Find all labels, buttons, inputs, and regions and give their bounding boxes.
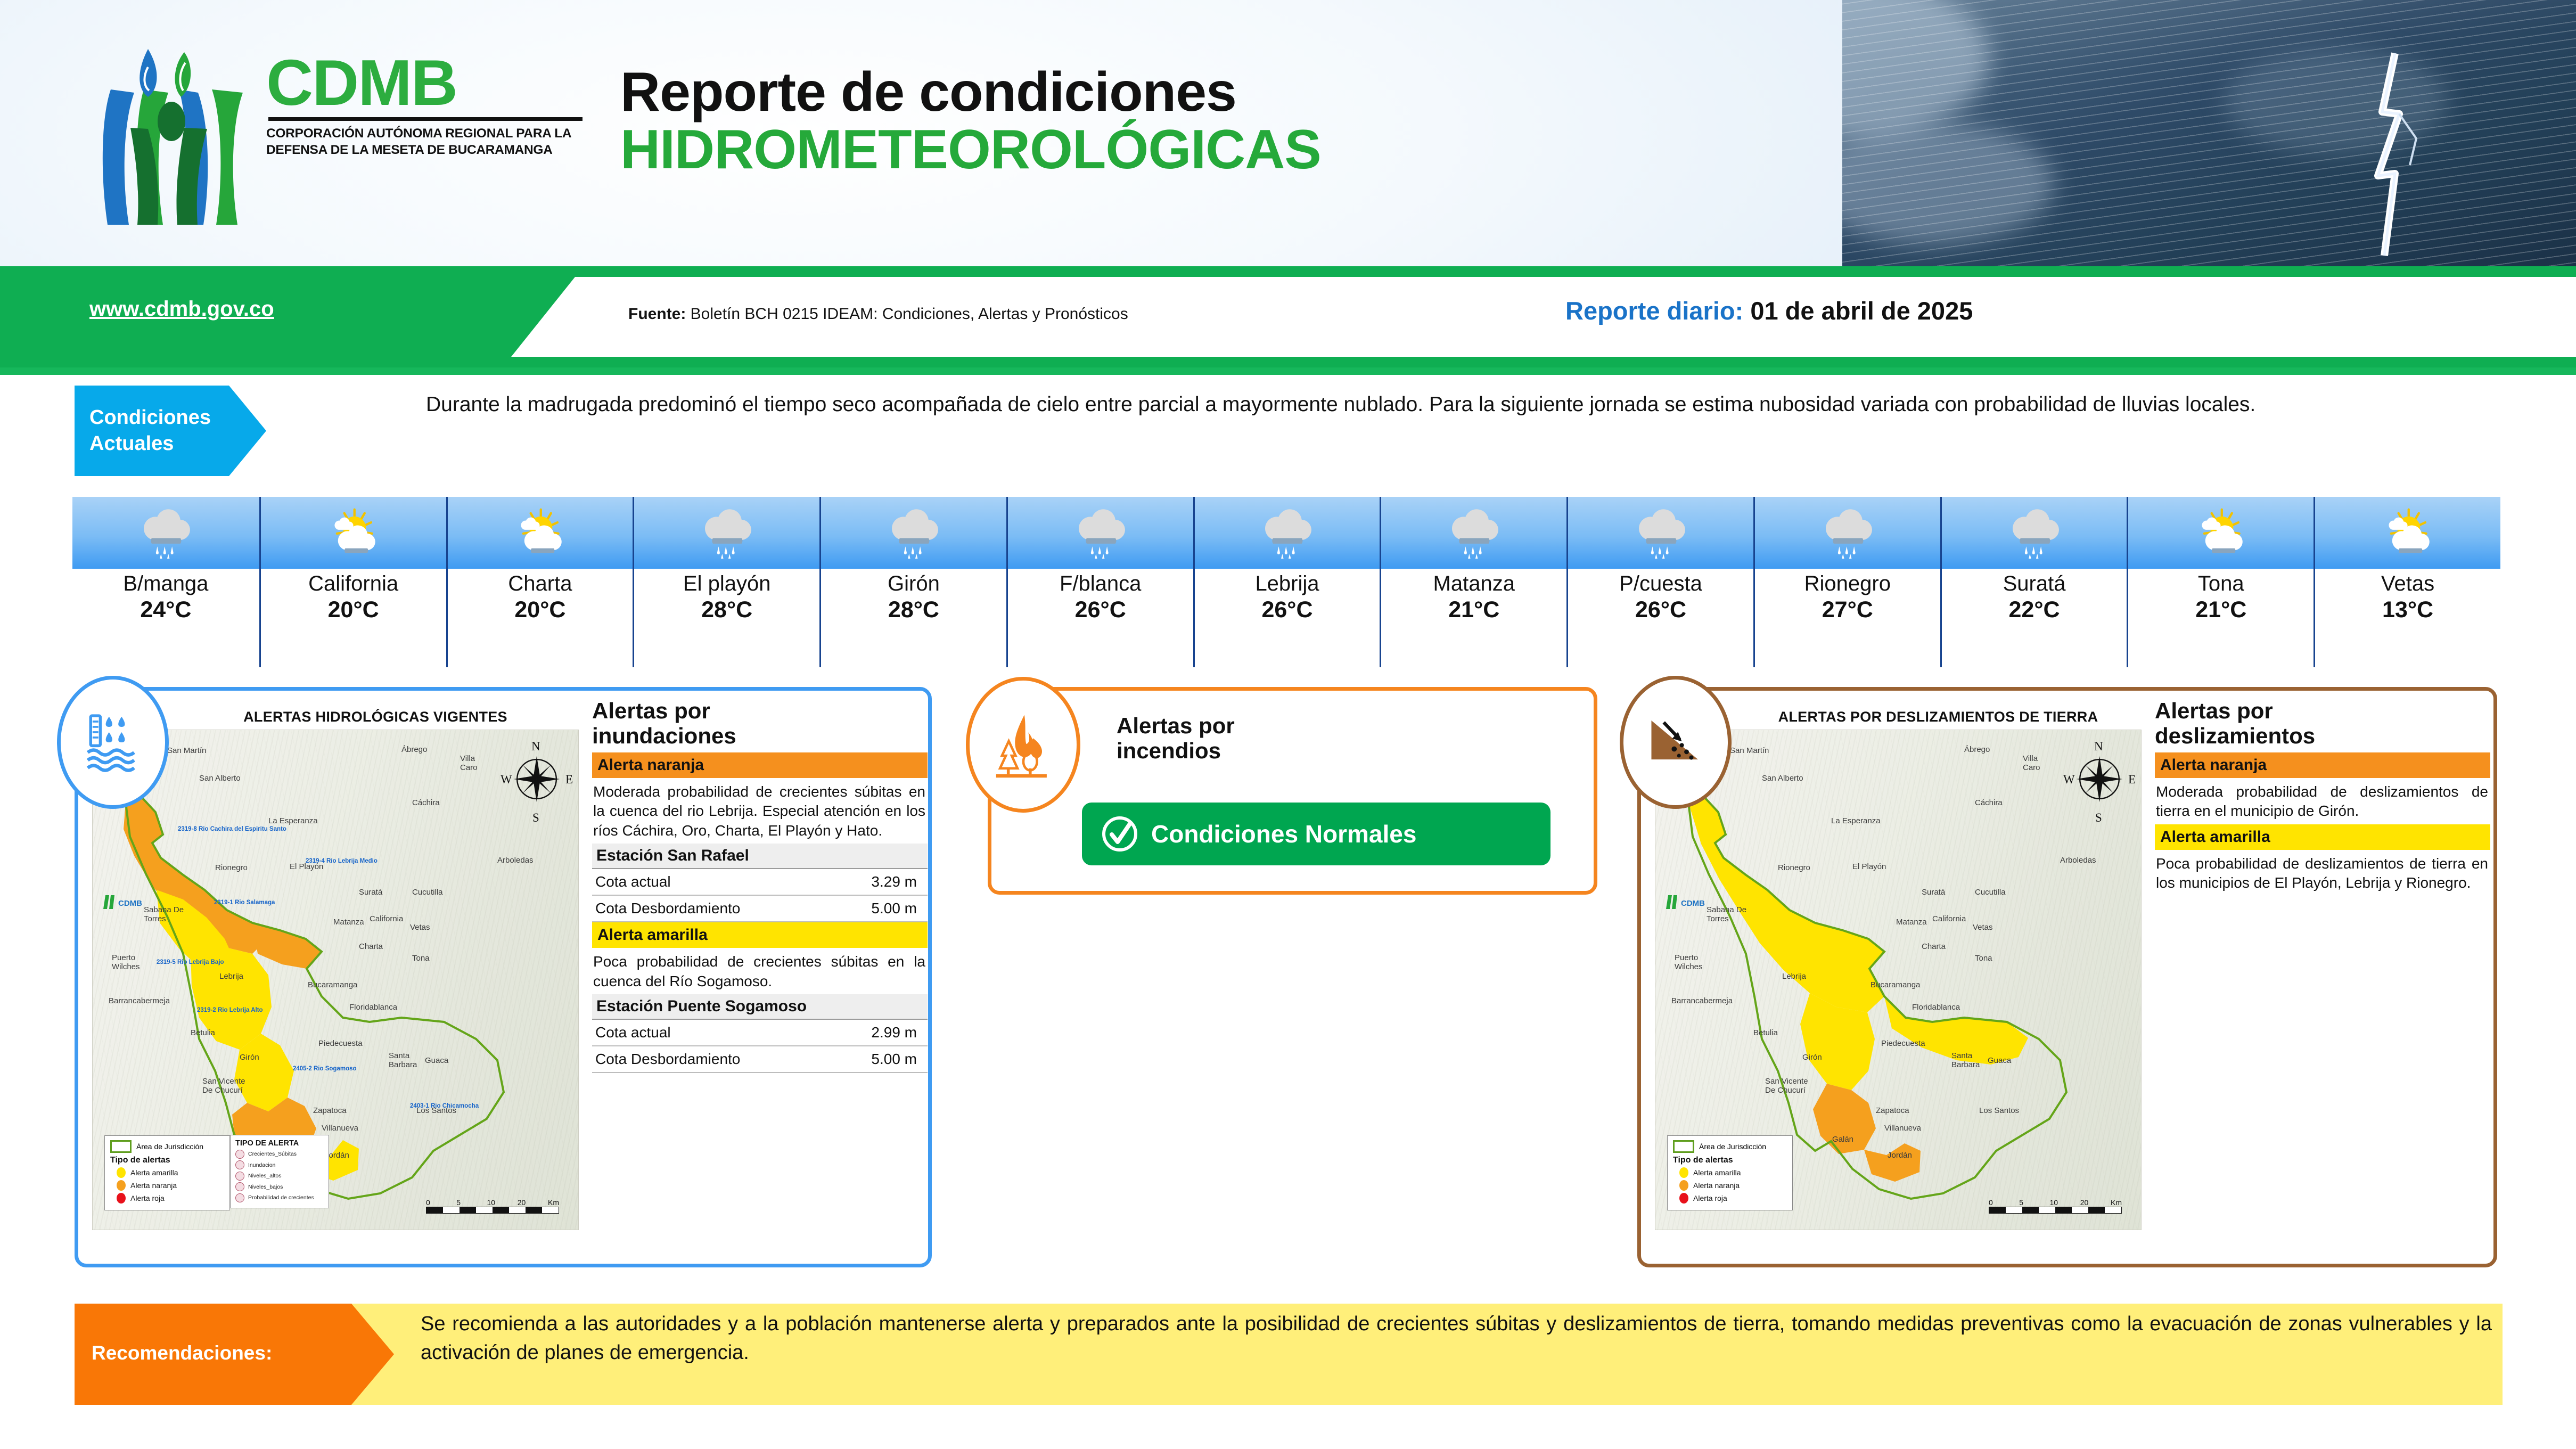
map-place-label: San Alberto xyxy=(199,774,241,783)
flood-station-1-row: Cota actual 3.29 m xyxy=(592,869,928,896)
weather-city-name: Vetas xyxy=(2315,572,2500,596)
logo-subtitle-line-2: DEFENSA DE LA MESETA DE BUCARAMANGA xyxy=(266,142,586,158)
weather-temperature: 24°C xyxy=(72,597,259,623)
legend-type-row: Alerta amarilla xyxy=(1679,1167,1787,1178)
weather-temperature: 26°C xyxy=(1195,597,1380,623)
scale-tick: 0 xyxy=(1989,1198,2019,1207)
weather-cell: Rionegro27°C xyxy=(1753,497,1940,667)
svg-text:CDMB: CDMB xyxy=(1681,899,1705,908)
weather-icon-box xyxy=(2127,497,2314,569)
rain-cloud-icon xyxy=(1446,507,1502,559)
weather-label-box: Tona21°C xyxy=(2127,569,2314,667)
map-place-label: San Vicente De Chucurí xyxy=(1765,1077,1811,1095)
map-place-label: Matanza xyxy=(333,918,364,927)
weather-icon-box xyxy=(1940,497,2127,569)
scale-tick: 20 xyxy=(518,1198,548,1207)
forest-fire-icon xyxy=(966,677,1080,813)
flood-alerts-title: Alertas por inundaciones xyxy=(592,698,928,748)
landslide-alerts-title: Alertas por deslizamientos xyxy=(2155,698,2490,748)
map-place-label: Ábrego xyxy=(401,745,427,754)
weather-temperature: 28°C xyxy=(821,597,1006,623)
report-date: 01 de abril de 2025 xyxy=(1750,297,1973,325)
map-place-label: Betulia xyxy=(191,1028,215,1037)
alert-kind-label: Probabilidad de crecientes xyxy=(248,1194,314,1201)
weather-temperature: 28°C xyxy=(634,597,819,623)
flood-map[interactable]: ALERTAS HIDROLÓGICAS VIGENTES San Martín… xyxy=(88,698,583,1255)
weather-cell: Tona21°C xyxy=(2127,497,2314,667)
alert-kind-row: Inundacion xyxy=(235,1160,324,1169)
map-place-label: San Alberto xyxy=(1762,774,1803,783)
weather-city-name: Suratá xyxy=(1942,572,2127,596)
legend-jurisdiction-row: Área de Jurisdicción xyxy=(1673,1140,1787,1153)
map-place-label: Cucutilla xyxy=(412,888,443,897)
flood-title-line-2: inundaciones xyxy=(592,723,928,748)
legend-type-row: Alerta naranja xyxy=(117,1180,224,1191)
map-place-label: La Esperanza xyxy=(268,816,318,825)
map-scale-bar: 0 5 10 20 Km xyxy=(426,1198,559,1214)
legend-type-row: Alerta naranja xyxy=(1679,1180,1787,1191)
map-place-label: Rionegro xyxy=(1778,863,1810,872)
legend-types-title: Tipo de alertas xyxy=(110,1156,224,1165)
weather-city-name: Girón xyxy=(821,572,1006,596)
map-place-label: Floridablanca xyxy=(1912,1003,1960,1012)
landslide-map[interactable]: ALERTAS POR DESLIZAMIENTOS DE TIERRA San… xyxy=(1651,698,2146,1255)
weather-icon-box xyxy=(819,497,1006,569)
scale-tick: 10 xyxy=(487,1198,518,1207)
weather-city-name: Lebrija xyxy=(1195,572,1380,596)
weather-label-box: Lebrija26°C xyxy=(1193,569,1380,667)
legend-type-label: Alerta naranja xyxy=(1693,1181,1740,1190)
svg-text:CDMB: CDMB xyxy=(118,899,142,908)
map-place-label: Puerto Wilches xyxy=(1675,954,1716,971)
map-place-label: La Esperanza xyxy=(1831,816,1881,825)
website-link[interactable]: www.cdmb.gov.co xyxy=(89,297,274,321)
weather-city-name: Rionegro xyxy=(1755,572,1940,596)
weather-label-box: California20°C xyxy=(259,569,446,667)
landslide-title-line-2: deslizamientos xyxy=(2155,723,2490,748)
map-place-label: Lebrija xyxy=(1782,972,1806,981)
map-river-label: 2405-2 Rio Sogamoso xyxy=(293,1066,357,1073)
weather-icon-box xyxy=(1753,497,1940,569)
map-scale-bar: 0 5 10 20 Km xyxy=(1989,1198,2122,1214)
weather-label-box: Girón28°C xyxy=(819,569,1006,667)
map-cdmb-logo: CDMB xyxy=(1663,890,1727,913)
map-place-label: Santa Barbara xyxy=(1951,1052,1981,1069)
weather-icon-box xyxy=(2314,497,2500,569)
map-place-label: Tona xyxy=(412,954,430,963)
source-text: Fuente: Boletín BCH 0215 IDEAM: Condicio… xyxy=(628,305,1128,323)
row-value: 3.29 m xyxy=(871,873,917,890)
map-place-label: Betulia xyxy=(1753,1028,1778,1037)
weather-temperature: 13°C xyxy=(2315,597,2500,623)
map-place-label: San Martín xyxy=(167,746,206,755)
jurisdiction-label: Área de Jurisdicción xyxy=(136,1142,203,1151)
legend-type-label: Alerta roja xyxy=(1693,1194,1727,1202)
weather-cell: Lebrija26°C xyxy=(1193,497,1380,667)
source-value: Boletín BCH 0215 IDEAM: Condiciones, Ale… xyxy=(691,305,1128,323)
alert-orange-dot xyxy=(1679,1180,1688,1191)
fire-title-line-1: Alertas por xyxy=(1117,713,1235,738)
legend-type-row: Alerta amarilla xyxy=(117,1167,224,1178)
landslide-map-canvas[interactable]: San Martín San Alberto Ábrego Villa Caro… xyxy=(1655,730,2142,1230)
title-line-1: Reporte de condiciones xyxy=(620,64,1321,120)
weather-cell: P/cuesta26°C xyxy=(1566,497,1753,667)
weather-temperature: 26°C xyxy=(1008,597,1193,623)
fire-title-line-2: incendios xyxy=(1117,738,1235,763)
alert-kind-title: TIPO DE ALERTA xyxy=(235,1139,324,1148)
map-place-label: Santa Barbara xyxy=(389,1052,419,1069)
legend-type-row: Alerta roja xyxy=(1679,1193,1787,1204)
niveles-bajos-icon xyxy=(235,1182,244,1191)
row-label: Cota actual xyxy=(595,873,671,890)
flood-station-2-row: Cota Desbordamiento 5.00 m xyxy=(592,1046,928,1073)
map-place-label: Floridablanca xyxy=(349,1003,397,1012)
map-place-label: Los Santos xyxy=(1979,1106,2019,1115)
landslide-yellow-alert-bar: Alerta amarilla xyxy=(2155,824,2490,850)
probabilidad-crecientes-icon xyxy=(235,1193,244,1202)
weather-label-box: Vetas13°C xyxy=(2314,569,2500,667)
flood-station-2-row: Cota actual 2.99 m xyxy=(592,1020,928,1046)
map-river-label: 2319-8 Rio Cachira del Espiritu Santo xyxy=(178,826,286,833)
fire-status-badge[interactable]: Condiciones Normales xyxy=(1082,803,1550,865)
map-place-label: Barrancabermeja xyxy=(109,996,170,1005)
logo-wordmark: CDMB xyxy=(266,52,596,114)
map-place-label: Vetas xyxy=(1973,923,1993,932)
weather-cell: B/manga24°C xyxy=(72,497,259,667)
scale-unit: Km xyxy=(548,1198,559,1207)
flood-alert-kind-legend: TIPO DE ALERTA Crecientes_Súbitas Inunda… xyxy=(230,1135,329,1209)
fire-alerts-panel: Alertas por incendios Condiciones Normal… xyxy=(988,687,1597,895)
map-place-label: Piedecuesta xyxy=(1881,1039,1925,1048)
alert-orange-dot xyxy=(117,1180,126,1191)
map-place-label: Charta xyxy=(1922,942,1946,951)
weather-cell: Vetas13°C xyxy=(2314,497,2500,667)
legend-type-label: Alerta amarilla xyxy=(1693,1168,1741,1177)
rain-cloud-icon xyxy=(1073,507,1128,559)
map-place-label: Villanueva xyxy=(1884,1124,1916,1133)
map-place-label: Matanza xyxy=(1896,918,1927,927)
flood-alert-details: Alertas por inundaciones Alerta naranja … xyxy=(592,698,928,1257)
weather-label-box: B/manga24°C xyxy=(72,569,259,667)
rain-cloud-icon xyxy=(138,507,193,559)
current-conditions-tag: Condiciones Actuales xyxy=(75,386,266,476)
fire-status-label: Condiciones Normales xyxy=(1151,820,1416,848)
alert-panels: ALERTAS HIDROLÓGICAS VIGENTES San Martín… xyxy=(0,687,2576,1283)
weather-city-name: F/blanca xyxy=(1008,572,1193,596)
flood-map-canvas[interactable]: San Martín San Alberto Ábrego Villa Caro… xyxy=(92,730,579,1230)
map-place-label: Barrancabermeja xyxy=(1671,996,1733,1005)
scale-strip xyxy=(426,1207,559,1214)
current-conditions-text: Durante la madrugada predominó el tiempo… xyxy=(426,390,2518,420)
landslide-orange-alert-text: Moderada probabilidad de deslizamientos … xyxy=(2155,778,2490,824)
map-place-label: Cucutilla xyxy=(1975,888,2006,897)
map-place-label: Bucaramanga xyxy=(1871,980,1920,989)
weather-temperature: 22°C xyxy=(1942,597,2127,623)
weather-label-box: Charta20°C xyxy=(446,569,633,667)
landslide-alerts-panel: ALERTAS POR DESLIZAMIENTOS DE TIERRA San… xyxy=(1637,687,2497,1267)
alert-kind-label: Crecientes_Súbitas xyxy=(248,1151,297,1157)
weather-temperature: 27°C xyxy=(1755,597,1940,623)
current-conditions-section: Condiciones Actuales Durante la madrugad… xyxy=(0,380,2576,484)
recommendations-tag: Recomendaciones: xyxy=(75,1304,394,1405)
landslide-alert-details: Alertas por deslizamientos Alerta naranj… xyxy=(2155,698,2490,1257)
inundacion-icon xyxy=(235,1160,244,1169)
map-river-label: 2319-4 Rio Lebrija Medio xyxy=(306,858,378,865)
map-place-label: Rionegro xyxy=(215,863,248,872)
sun-cloud-icon xyxy=(512,507,568,559)
flood-orange-alert-text: Moderada probabilidad de crecientes súbi… xyxy=(592,778,928,844)
weather-label-box: Suratá22°C xyxy=(1940,569,2127,667)
crecientes-subitas-icon xyxy=(235,1150,244,1159)
weather-temperature: 20°C xyxy=(448,597,633,623)
weather-city-name: California xyxy=(261,572,446,596)
info-bar: www.cdmb.gov.co Fuente: Boletín BCH 0215… xyxy=(0,266,2576,367)
weather-city-name: El playón xyxy=(634,572,819,596)
jurisdiction-label: Área de Jurisdicción xyxy=(1699,1142,1766,1151)
recommendations-text: Se recomienda a las autoridades y a la p… xyxy=(421,1310,2492,1368)
map-place-label: Galán xyxy=(1832,1135,1853,1144)
rain-cloud-icon xyxy=(699,507,754,559)
scale-tick: 20 xyxy=(2080,1198,2111,1207)
weather-cell: Matanza21°C xyxy=(1380,497,1566,667)
weather-label-box: F/blanca26°C xyxy=(1006,569,1193,667)
flood-station-1-row: Cota Desbordamiento 5.00 m xyxy=(592,896,928,922)
scale-unit: Km xyxy=(2111,1198,2122,1207)
landslide-icon xyxy=(1620,676,1732,809)
map-place-label: California xyxy=(1932,914,1966,923)
weather-city-name: P/cuesta xyxy=(1568,572,1753,596)
map-river-label: 2319-1 Rio Salamaga xyxy=(214,899,275,906)
logo-subtitle-line-1: CORPORACIÓN AUTÓNOMA REGIONAL PARA LA xyxy=(266,125,586,142)
flood-orange-alert-bar: Alerta naranja xyxy=(592,752,928,778)
source-label: Fuente: xyxy=(628,305,686,323)
weather-city-name: B/manga xyxy=(72,572,259,596)
weather-cell: Girón28°C xyxy=(819,497,1006,667)
scale-tick: 5 xyxy=(456,1198,487,1207)
niveles-altos-icon xyxy=(235,1172,244,1181)
map-place-label: Arboledas xyxy=(497,856,534,865)
weather-icon-box xyxy=(1006,497,1193,569)
row-label: Cota actual xyxy=(595,1024,671,1041)
flood-yellow-alert-bar: Alerta amarilla xyxy=(592,922,928,948)
row-label: Cota Desbordamiento xyxy=(595,900,740,917)
water-gauge-icon xyxy=(57,676,169,809)
weather-cell: California20°C xyxy=(259,497,446,667)
map-place-label: Zapatoca xyxy=(313,1106,347,1115)
weather-icon-box xyxy=(1566,497,1753,569)
weather-icon-box xyxy=(259,497,446,569)
alert-kind-label: Niveles_bajos xyxy=(248,1184,283,1190)
scale-tick: 10 xyxy=(2050,1198,2080,1207)
legend-type-label: Alerta naranja xyxy=(130,1181,177,1190)
weather-label-box: Rionegro27°C xyxy=(1753,569,1940,667)
weather-icon-box xyxy=(72,497,259,569)
rain-cloud-icon xyxy=(1259,507,1315,559)
weather-label-box: P/cuesta26°C xyxy=(1566,569,1753,667)
fire-alerts-title: Alertas por incendios xyxy=(1117,713,1235,763)
row-label: Cota Desbordamiento xyxy=(595,1051,740,1068)
flood-title-line-1: Alertas por xyxy=(592,698,928,723)
scale-tick: 0 xyxy=(426,1198,456,1207)
sun-cloud-icon xyxy=(2380,507,2435,559)
tag-line-2: Actuales xyxy=(89,431,266,457)
alert-yellow-dot xyxy=(117,1167,126,1178)
page-title: Reporte de condiciones HIDROMETEOROLÓGIC… xyxy=(620,64,1321,179)
flood-station-1-name: Estación San Rafael xyxy=(592,844,928,869)
map-place-label: Guaca xyxy=(425,1056,448,1065)
lightning-icon xyxy=(2363,48,2427,261)
row-value: 5.00 m xyxy=(871,1051,917,1068)
map-place-label: Arboledas xyxy=(2060,856,2096,865)
weather-label-box: El playón28°C xyxy=(633,569,819,667)
weather-icon-box xyxy=(633,497,819,569)
weather-temperature: 26°C xyxy=(1568,597,1753,623)
map-place-label: Tona xyxy=(1975,954,1992,963)
legend-types-title: Tipo de alertas xyxy=(1673,1156,1787,1165)
flood-station-2-name: Estación Puente Sogamoso xyxy=(592,994,928,1020)
alert-red-dot xyxy=(1679,1193,1688,1204)
map-place-label: Ábrego xyxy=(1964,745,1990,754)
map-place-label: Zapatoca xyxy=(1876,1106,1909,1115)
sun-cloud-icon xyxy=(2193,507,2249,559)
map-place-label: Girón xyxy=(1802,1053,1822,1062)
weather-strip: B/manga24°C California20°C Charta20°C xyxy=(72,497,2500,667)
scale-tick: 5 xyxy=(2019,1198,2049,1207)
rain-cloud-icon xyxy=(1633,507,1688,559)
map-place-label: Cáchira xyxy=(412,798,440,807)
map-place-label: Piedecuesta xyxy=(318,1039,363,1048)
alert-kind-label: Niveles_altos xyxy=(248,1173,281,1179)
map-place-label: Puerto Wilches xyxy=(112,954,153,971)
weather-icon-box xyxy=(446,497,633,569)
alert-kind-row: Crecientes_Súbitas xyxy=(235,1150,324,1159)
map-place-label: Cáchira xyxy=(1975,798,2003,807)
map-place-label: San Vicente De Chucurí xyxy=(202,1077,248,1095)
map-place-label: San Martín xyxy=(1730,746,1769,755)
alert-red-dot xyxy=(117,1193,126,1204)
weather-cell: F/blanca26°C xyxy=(1006,497,1193,667)
map-river-label: 2403-1 Rio Chicamocha xyxy=(410,1103,479,1110)
weather-city-name: Matanza xyxy=(1381,572,1566,596)
jurisdiction-swatch xyxy=(110,1140,132,1153)
legend-type-label: Alerta amarilla xyxy=(130,1168,178,1177)
map-place-label: Charta xyxy=(359,942,383,951)
landslide-orange-alert-bar: Alerta naranja xyxy=(2155,752,2490,778)
weather-cell: Suratá22°C xyxy=(1940,497,2127,667)
legend-type-row: Alerta roja xyxy=(117,1193,224,1204)
weather-temperature: 21°C xyxy=(1381,597,1566,623)
cdmb-logo: CDMB CORPORACIÓN AUTÓNOMA REGIONAL PARA … xyxy=(64,32,596,245)
page-header: CDMB CORPORACIÓN AUTÓNOMA REGIONAL PARA … xyxy=(0,0,2576,266)
report-date-block: Reporte diario: 01 de abril de 2025 xyxy=(1565,296,1973,325)
alert-yellow-dot xyxy=(1679,1167,1688,1178)
map-river-label: 2319-5 Rio Lebrija Bajo xyxy=(157,959,224,966)
weather-temperature: 20°C xyxy=(261,597,446,623)
map-place-label: Lebrija xyxy=(219,972,243,981)
report-label: Reporte diario: xyxy=(1565,297,1743,325)
title-line-2: HIDROMETEOROLÓGICAS xyxy=(620,120,1321,179)
rain-cloud-icon xyxy=(2007,507,2062,559)
rain-cloud-icon xyxy=(1820,507,1875,559)
map-place-label: Guaca xyxy=(1988,1056,2011,1065)
map-place-label: Suratá xyxy=(1922,888,1945,897)
alert-kind-label: Inundacion xyxy=(248,1162,275,1168)
legend-jurisdiction-row: Área de Jurisdicción xyxy=(110,1140,224,1153)
flood-alerts-panel: ALERTAS HIDROLÓGICAS VIGENTES San Martín… xyxy=(75,687,932,1267)
green-divider xyxy=(0,367,2576,375)
map-place-label: Villa Caro xyxy=(460,755,487,772)
alert-kind-row: Niveles_bajos xyxy=(235,1182,324,1191)
weather-cell: El playón28°C xyxy=(633,497,819,667)
alert-kind-row: Probabilidad de crecientes xyxy=(235,1193,324,1202)
weather-cell: Charta20°C xyxy=(446,497,633,667)
map-place-label: California xyxy=(370,914,403,923)
map-place-label: Jordán xyxy=(1888,1151,1912,1160)
map-place-label: Suratá xyxy=(359,888,382,897)
weather-icon-box xyxy=(1193,497,1380,569)
tag-line-1: Condiciones xyxy=(89,405,266,431)
row-value: 5.00 m xyxy=(871,900,917,917)
map-place-label: El Playón xyxy=(1852,862,1886,871)
landslide-title-line-1: Alertas por xyxy=(2155,698,2490,723)
weather-icon-box xyxy=(1380,497,1566,569)
flood-map-legend: Área de Jurisdicción Tipo de alertas Ale… xyxy=(104,1135,230,1210)
recommendations-section: Recomendaciones: Se recomienda a las aut… xyxy=(0,1299,2576,1422)
check-circle-icon xyxy=(1100,814,1139,854)
jurisdiction-swatch xyxy=(1673,1140,1694,1153)
map-place-label: Villa Caro xyxy=(2023,755,2049,772)
row-value: 2.99 m xyxy=(871,1024,917,1041)
storm-photo xyxy=(1745,0,2576,266)
map-river-label: 2319-2 Rio Lebrija Alto xyxy=(197,1007,263,1014)
landslide-yellow-alert-text: Poca probabilidad de deslizamientos de t… xyxy=(2155,850,2490,896)
map-place-label: Girón xyxy=(240,1053,259,1062)
map-place-label: Bucaramanga xyxy=(308,980,357,989)
sun-cloud-icon xyxy=(326,507,381,559)
scale-strip xyxy=(1989,1207,2122,1214)
scale-numbers: 0 5 10 20 Km xyxy=(1989,1198,2122,1207)
compass-rose-icon: N S W E xyxy=(2068,742,2131,822)
map-cdmb-logo: CDMB xyxy=(100,890,164,913)
weather-city-name: Tona xyxy=(2128,572,2314,596)
weather-temperature: 21°C xyxy=(2128,597,2314,623)
rain-cloud-icon xyxy=(886,507,941,559)
weather-label-box: Matanza21°C xyxy=(1380,569,1566,667)
landslide-map-legend: Área de Jurisdicción Tipo de alertas Ale… xyxy=(1667,1135,1793,1210)
cdmb-logo-mark xyxy=(80,37,261,229)
weather-city-name: Charta xyxy=(448,572,633,596)
map-place-label: Villanueva xyxy=(322,1124,354,1133)
scale-numbers: 0 5 10 20 Km xyxy=(426,1198,559,1207)
compass-rose-icon: N S W E xyxy=(505,742,569,822)
flood-yellow-alert-text: Poca probabilidad de crecientes súbitas … xyxy=(592,948,928,994)
alert-kind-row: Niveles_altos xyxy=(235,1172,324,1181)
map-place-label: Vetas xyxy=(410,923,430,932)
legend-type-label: Alerta roja xyxy=(130,1194,165,1202)
